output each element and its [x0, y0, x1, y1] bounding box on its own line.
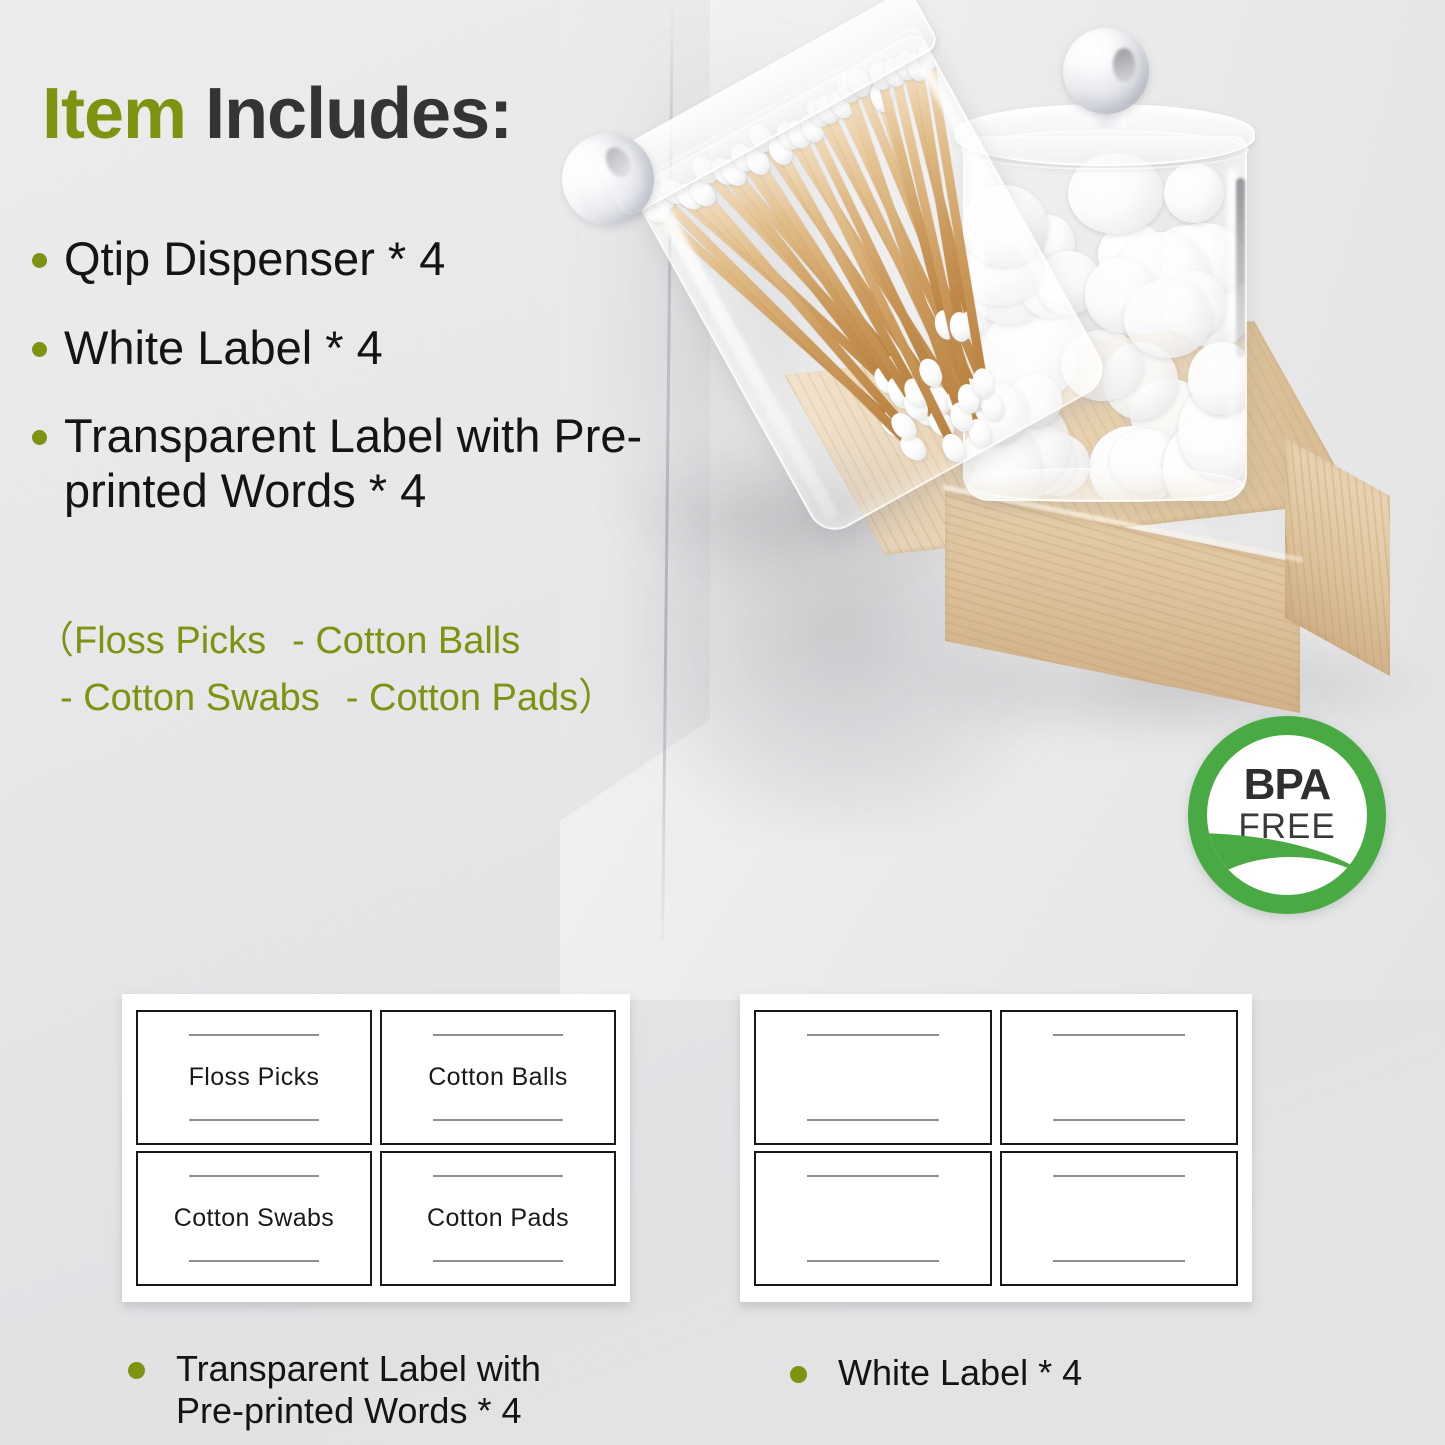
bullet-dot-icon	[128, 1362, 145, 1379]
white-label-sheet	[740, 994, 1252, 1302]
bpa-free-badge: BPA FREE	[1188, 716, 1386, 914]
label-card-floss-picks: Floss Picks	[136, 1010, 372, 1145]
note-floss-picks: Floss Picks	[74, 620, 266, 662]
label-rule-top	[1053, 1175, 1184, 1177]
label-rule-top	[189, 1034, 319, 1036]
preprinted-words-row-1: （Floss Picks- Cotton Balls	[36, 613, 676, 670]
label-rule-bottom	[807, 1119, 938, 1121]
label-rule-top	[807, 1034, 938, 1036]
bpa-badge-inner: BPA FREE	[1207, 735, 1367, 895]
caption-white-label: White Label * 4	[790, 1352, 1230, 1394]
label-rule-bottom	[433, 1119, 563, 1121]
label-slot	[754, 1151, 992, 1286]
page-title-green-word: Item	[42, 74, 186, 154]
note-cotton-swabs: - Cotton Swabs	[60, 677, 320, 719]
label-rule-top	[433, 1034, 563, 1036]
label-rule-bottom	[433, 1260, 563, 1262]
page-title: Item Includes:	[42, 78, 512, 150]
feature-item-white-label: White Label * 4	[18, 321, 678, 376]
bullet-dot-icon	[790, 1366, 807, 1383]
label-slot: Cotton Balls	[380, 1010, 616, 1145]
preprinted-words-note: （Floss Picks- Cotton Balls - Cotton Swab…	[36, 613, 676, 727]
caption-transparent-label: Transparent Label with Pre-printed Words…	[128, 1348, 648, 1433]
label-text: Floss Picks	[189, 1063, 320, 1092]
caption-line-1: White Label * 4	[838, 1352, 1230, 1394]
label-card-cotton-swabs: Cotton Swabs	[136, 1151, 372, 1286]
label-card-cotton-balls: Cotton Balls	[380, 1010, 616, 1145]
label-slot	[1000, 1151, 1238, 1286]
caption-line-2: Pre-printed Words * 4	[176, 1390, 648, 1432]
label-rule-bottom	[1053, 1119, 1184, 1121]
label-rule-top	[433, 1175, 563, 1177]
feature-item-transparent-label: Transparent Label with Pre-printed Words…	[18, 409, 678, 518]
label-rule-top	[807, 1175, 938, 1177]
note-cotton-pads: - Cotton Pads	[346, 677, 578, 719]
infographic-canvas: BPA FREE Item Includes: Qtip Dispenser *…	[0, 0, 1445, 1445]
label-rule-top	[189, 1175, 319, 1177]
label-text: Cotton Swabs	[174, 1204, 334, 1233]
jar-edge-reflection	[1236, 178, 1245, 358]
label-rule-bottom	[1053, 1260, 1184, 1262]
transparent-label-sheet: Floss Picks Cotton Balls Cotton Swabs Co…	[122, 994, 630, 1302]
note-cotton-balls: - Cotton Balls	[292, 620, 520, 662]
paren-close: ）	[578, 677, 616, 719]
label-text: Cotton Balls	[428, 1063, 568, 1092]
page-title-dark-word: Includes:	[205, 74, 512, 154]
blank-label-card-2	[1000, 1010, 1238, 1145]
label-slot	[754, 1010, 992, 1145]
blank-label-card-3	[754, 1151, 992, 1286]
label-slot: Cotton Pads	[380, 1151, 616, 1286]
blank-label-card-1	[754, 1010, 992, 1145]
label-slot	[1000, 1010, 1238, 1145]
preprinted-words-row-2: - Cotton Swabs- Cotton Pads）	[36, 670, 676, 727]
label-rule-bottom	[189, 1260, 319, 1262]
paren-open: （	[36, 620, 74, 662]
label-slot: Floss Picks	[136, 1010, 372, 1145]
jar-lid-ball-knob	[1063, 28, 1149, 114]
caption-line-1: Transparent Label with	[176, 1348, 648, 1390]
label-text: Cotton Pads	[427, 1204, 569, 1233]
label-card-cotton-pads: Cotton Pads	[380, 1151, 616, 1286]
label-rule-bottom	[807, 1260, 938, 1262]
bpa-badge-line1: BPA	[1244, 763, 1331, 807]
label-slot: Cotton Swabs	[136, 1151, 372, 1286]
feature-item-qtip-dispenser: Qtip Dispenser * 4	[18, 232, 678, 287]
label-rule-top	[1053, 1034, 1184, 1036]
feature-list: Qtip Dispenser * 4 White Label * 4 Trans…	[18, 232, 678, 552]
label-rule-bottom	[189, 1119, 319, 1121]
blank-label-card-4	[1000, 1151, 1238, 1286]
